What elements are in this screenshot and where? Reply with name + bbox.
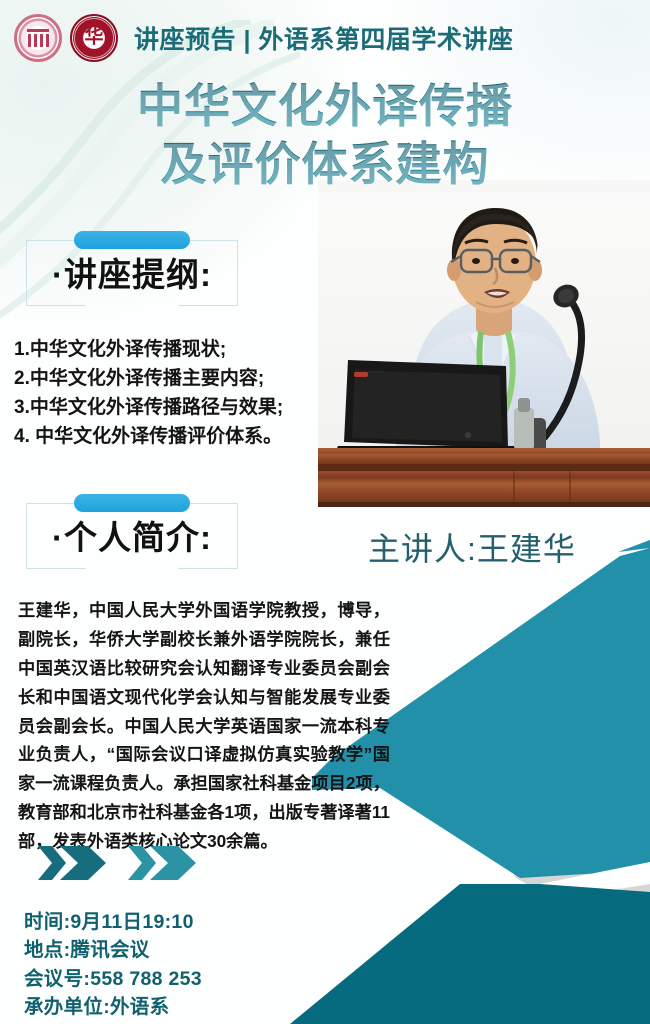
- speaker-photo: [318, 180, 650, 507]
- band-highlight-edge: [618, 540, 650, 552]
- chevron-icon: [128, 846, 156, 880]
- footer-place: 地点:腾讯会议: [24, 936, 202, 964]
- footer-info: 时间:9月11日19:10 地点:腾讯会议 会议号:558 788 253 承办…: [24, 908, 202, 1021]
- lecture-poster: 讲座预告 | 外语系第四届学术讲座 中华文化外译传播 及评价体系建构: [0, 0, 650, 1024]
- footer-meeting-id: 会议号:558 788 253: [24, 965, 202, 993]
- section-heading-outline-label: ·讲座提纲:: [26, 240, 238, 306]
- list-item: 4. 中华文化外译传播评价体系。: [14, 423, 334, 452]
- chevron-icon: [60, 846, 106, 880]
- section-heading-outline: ·讲座提纲:: [26, 240, 238, 306]
- outline-list: 1.中华文化外译传播现状; 2.中华文化外译传播主要内容; 3.中华文化外译传播…: [14, 336, 334, 452]
- chevron-arrows-decoration: [36, 840, 236, 886]
- poster-header: 讲座预告 | 外语系第四届学术讲座: [0, 0, 650, 76]
- chevron-icon: [38, 846, 66, 880]
- huaqiao-university-seal-icon: [70, 14, 118, 62]
- header-title: 讲座预告 | 外语系第四届学术讲座: [134, 20, 513, 56]
- page-title-line-1: 中华文化外译传播: [0, 78, 650, 136]
- list-item: 3.中华文化外译传播路径与效果;: [14, 394, 334, 423]
- page-title-line-2: 及评价体系建构: [0, 136, 650, 194]
- section-heading-bio-label: ·个人简介:: [26, 503, 238, 569]
- page-title: 中华文化外译传播 及评价体系建构: [0, 78, 650, 194]
- footer-time: 时间:9月11日19:10: [24, 908, 202, 936]
- footer-organizer: 承办单位:外语系: [24, 993, 202, 1021]
- dark-teal-band-shape: [290, 884, 650, 1024]
- list-item: 2.中华文化外译传播主要内容;: [14, 365, 334, 394]
- chevron-icon: [150, 846, 196, 880]
- gray-wedge-shape: [512, 700, 650, 1024]
- section-heading-bio: ·个人简介:: [26, 503, 238, 569]
- speaker-name: 主讲人:王建华: [368, 524, 576, 570]
- list-item: 1.中华文化外译传播现状;: [14, 336, 334, 365]
- renmin-university-seal-icon: [14, 14, 62, 62]
- speaker-bio-text: 王建华，中国人民大学外国语学院教授，博导，副院长，华侨大学副校长兼外语学院院长，…: [18, 596, 390, 856]
